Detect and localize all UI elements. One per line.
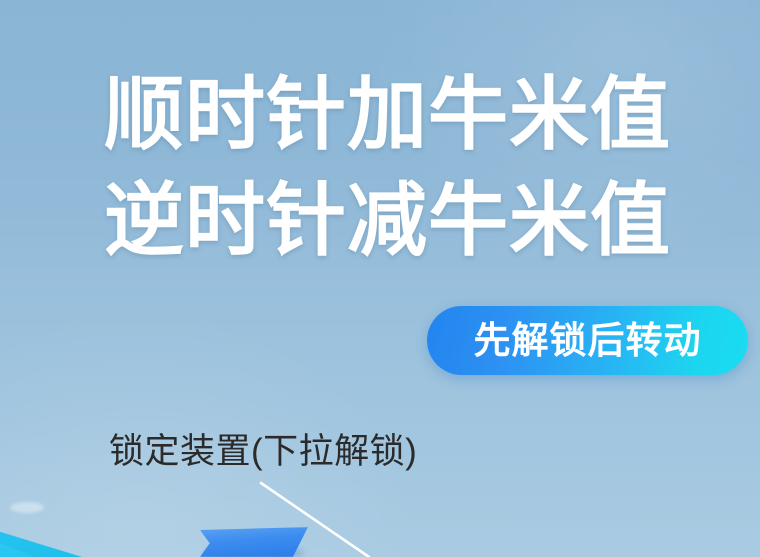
product-highlight-glint (10, 502, 44, 513)
headline-block: 顺时针加牛米值 逆时针减牛米值 (104, 62, 754, 275)
headline-line-2: 逆时针减牛米值 (104, 168, 754, 274)
lock-device-callout-label: 锁定装置(下拉解锁) (109, 433, 417, 472)
headline-line-1: 顺时针加牛米值 (104, 62, 754, 168)
unlock-instruction-badge: 先解锁后转动 (427, 306, 748, 375)
product-instruction-poster: 顺时针加牛米值 逆时针减牛米值 先解锁后转动 锁定装置(下拉解锁) (0, 0, 760, 557)
unlock-instruction-badge-label: 先解锁后转动 (474, 322, 702, 359)
blue-ribbon-marker (200, 527, 308, 557)
